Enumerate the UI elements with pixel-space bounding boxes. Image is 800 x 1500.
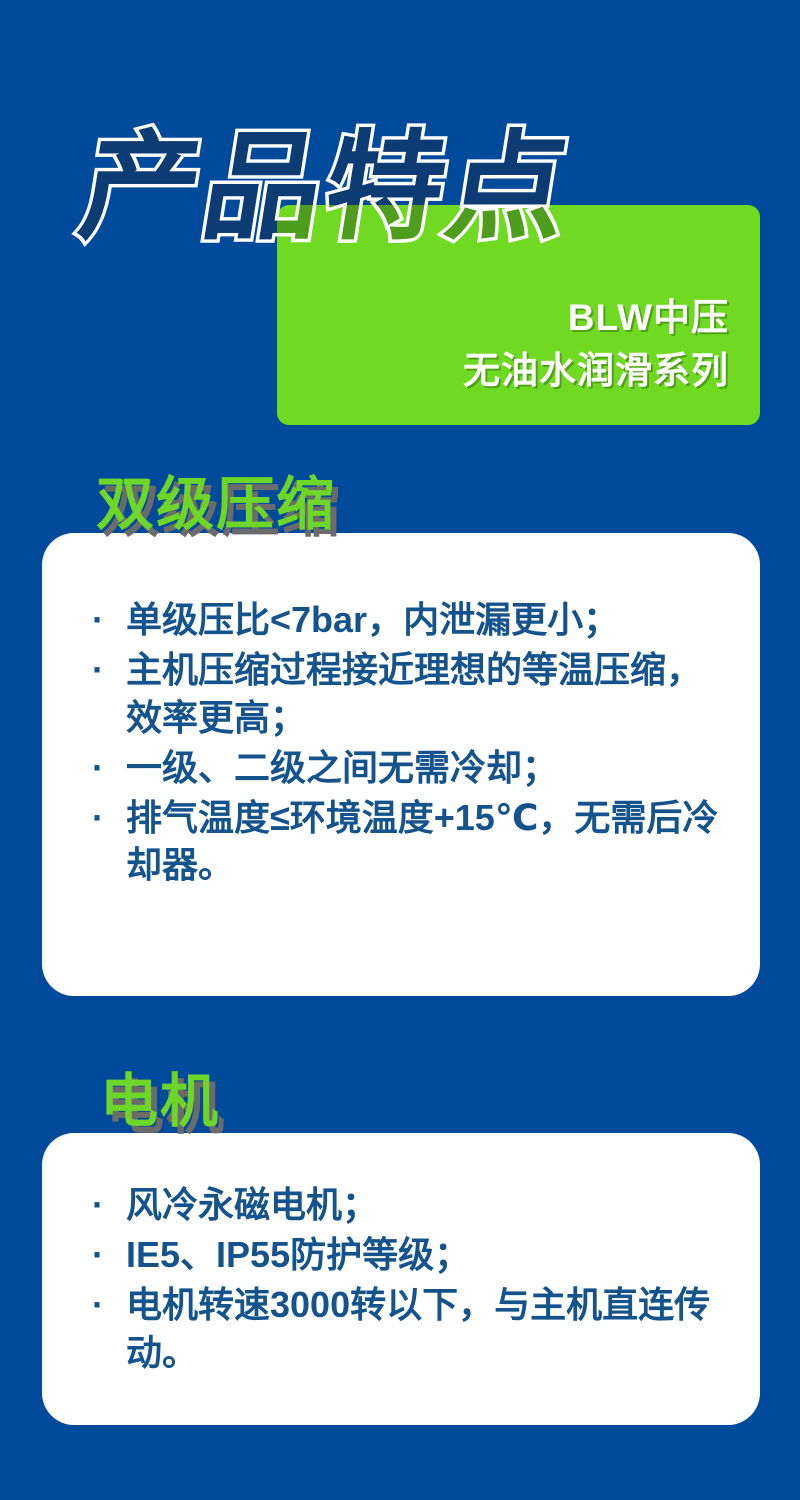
list-item: · 电机转速3000转以下，与主机直连传动。 xyxy=(84,1281,730,1377)
bullet-list-motor: · 风冷永磁电机； · IE5、IP55防护等级； · 电机转速3000转以下，… xyxy=(84,1181,730,1379)
poster-root: 产品特点 产品特点 产品特点 产品特点 BLW中压 无油水润滑系列 双级压缩 ·… xyxy=(0,0,800,1500)
section-card-motor: · 风冷永磁电机； · IE5、IP55防护等级； · 电机转速3000转以下，… xyxy=(42,1133,760,1425)
list-item: · 排气温度≤环境温度+15℃，无需后冷却器。 xyxy=(84,794,730,890)
bullet-text: 主机压缩过程接近理想的等温压缩，效率更高； xyxy=(126,646,730,742)
section-card-dual-stage: · 单级压比<7bar，内泄漏更小； · 主机压缩过程接近理想的等温压缩，效率更… xyxy=(42,533,760,996)
section-heading-dual-stage: 双级压缩 xyxy=(96,475,336,533)
list-item: · 主机压缩过程接近理想的等温压缩，效率更高； xyxy=(84,646,730,742)
bullet-dot-icon: · xyxy=(92,744,104,792)
poster-subtitle-line-2: 无油水润滑系列 xyxy=(277,345,729,398)
bullet-text: 风冷永磁电机； xyxy=(126,1181,730,1229)
list-item: · 一级、二级之间无需冷却； xyxy=(84,744,730,792)
poster-subtitle-line-1: BLW中压 xyxy=(277,292,729,345)
bullet-text: 排气温度≤环境温度+15℃，无需后冷却器。 xyxy=(126,794,730,890)
poster-subtitle: BLW中压 无油水润滑系列 xyxy=(277,292,747,397)
poster-title-overlap: 产品特点 xyxy=(277,205,580,246)
bullet-dot-icon: · xyxy=(92,1231,104,1279)
bullet-list-dual-stage: · 单级压比<7bar，内泄漏更小； · 主机压缩过程接近理想的等温压缩，效率更… xyxy=(84,596,730,891)
bullet-dot-icon: · xyxy=(92,794,104,842)
bullet-text: 单级压比<7bar，内泄漏更小； xyxy=(126,596,730,644)
bullet-text: 一级、二级之间无需冷却； xyxy=(126,744,730,792)
bullet-dot-icon: · xyxy=(92,1181,104,1229)
list-item: · 风冷永磁电机； xyxy=(84,1181,730,1229)
list-item: · 单级压比<7bar，内泄漏更小； xyxy=(84,596,730,644)
list-item: · IE5、IP55防护等级； xyxy=(84,1231,730,1279)
bullet-text: 电机转速3000转以下，与主机直连传动。 xyxy=(126,1281,730,1377)
bullet-dot-icon: · xyxy=(92,1281,104,1329)
bullet-text: IE5、IP55防护等级； xyxy=(126,1231,730,1279)
section-heading-motor: 电机 xyxy=(100,1072,220,1130)
poster-header: 产品特点 产品特点 产品特点 产品特点 BLW中压 无油水润滑系列 xyxy=(0,0,800,440)
bullet-dot-icon: · xyxy=(92,646,104,694)
bullet-dot-icon: · xyxy=(92,596,104,644)
